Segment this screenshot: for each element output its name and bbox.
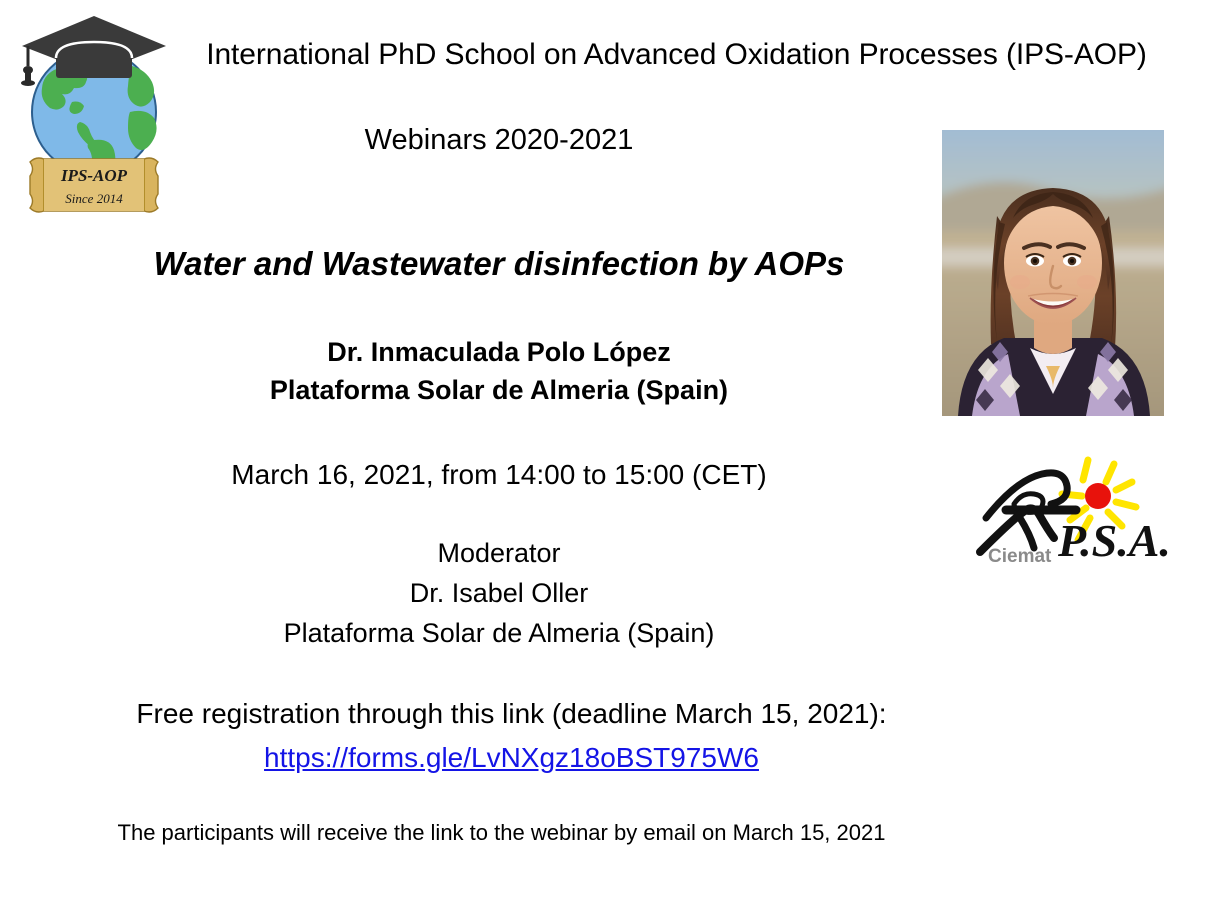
ips-aop-logo: IPS-AOP Since 2014 <box>14 4 174 216</box>
scroll-title: IPS-AOP <box>60 166 128 185</box>
moderator-name: Dr. Isabel Oller <box>0 578 1213 609</box>
sun-core <box>1085 483 1111 509</box>
psa-text: P.S.A. <box>1057 515 1171 566</box>
scroll-subtitle: Since 2014 <box>65 191 123 206</box>
psa-ciemat-logo: P.S.A. Ciemat <box>962 452 1188 572</box>
ciemat-text: Ciemat <box>988 546 1052 567</box>
moderator-affiliation: Plataforma Solar de Almeria (Spain) <box>0 618 1213 649</box>
page-title: International PhD School on Advanced Oxi… <box>0 38 1213 72</box>
footer-note: The participants will receive the link t… <box>0 820 1213 846</box>
registration-instruction: Free registration through this link (dea… <box>0 698 1213 730</box>
speaker-portrait <box>942 130 1164 416</box>
registration-link-row: https://forms.gle/LvNXgz18oBST975W6 <box>0 742 1213 774</box>
registration-link[interactable]: https://forms.gle/LvNXgz18oBST975W6 <box>264 742 759 773</box>
psa-wordmark: P.S.A. <box>1057 515 1171 566</box>
scroll-banner: IPS-AOP Since 2014 <box>30 158 158 212</box>
